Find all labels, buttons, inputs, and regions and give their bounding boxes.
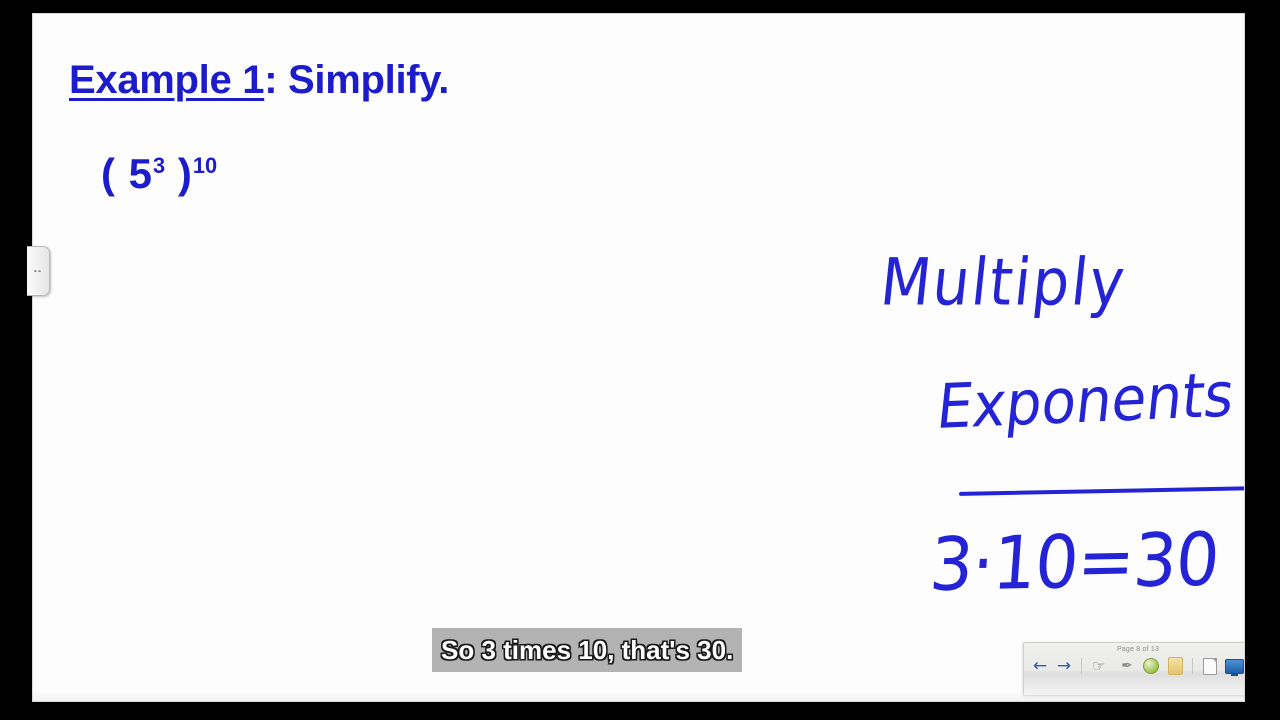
slide-canvas[interactable]: Example 1: Simplify. ( 53 )10 Multiply E… [33,14,1244,701]
arrow-left-icon: ← [1033,658,1047,675]
arrow-right-icon: → [1057,658,1071,675]
sidebar-toggle-handle[interactable]: •• [27,246,50,296]
expression-base: 5 [129,150,153,197]
page-title-instruction: : Simplify. [264,58,449,102]
expression-open-paren: ( [101,150,129,197]
closed-caption-text: So 3 times 10, that's 30. [441,635,733,666]
pointer-tool-button[interactable]: ☞ [1089,656,1109,676]
hand-pointer-icon: ☞ [1092,659,1105,674]
closed-caption-bar: So 3 times 10, that's 30. [432,628,742,672]
monitor-icon [1225,659,1244,674]
presenter-toolbar[interactable]: Page 8 of 13 ← → ☞ ✒ [1023,642,1244,696]
annotation-line-exponents: Exponents [933,360,1237,444]
pen-icon: ✒ [1121,659,1133,673]
grip-dots-icon: •• [34,268,42,274]
expression-close-paren: ) [165,150,193,197]
expression-inner-exponent: 3 [153,153,165,178]
document-icon [1203,658,1217,675]
page-indicator-label: Page 8 of 13 [1024,646,1244,653]
next-page-button[interactable]: → [1054,656,1074,676]
page-title-example-label: Example 1 [69,58,264,102]
record-button[interactable] [1141,656,1161,676]
page-title: Example 1: Simplify. [69,58,449,103]
toolbar-button-row: ← → ☞ ✒ [1030,655,1244,677]
highlight-button[interactable] [1165,656,1185,676]
pen-tool-button[interactable]: ✒ [1117,656,1137,676]
record-circle-icon [1143,658,1159,674]
annotation-underline-stroke [959,486,1244,496]
video-letterbox-frame: Example 1: Simplify. ( 53 )10 Multiply E… [0,0,1280,720]
previous-page-button[interactable]: ← [1030,656,1050,676]
math-expression: ( 53 )10 [101,150,217,198]
annotation-line-equation: 3·10=30 [927,518,1221,609]
toolbar-divider-2 [1192,658,1193,674]
toolbar-divider-1 [1081,658,1082,674]
annotation-line-multiply: Multiply [877,244,1130,320]
notes-button[interactable] [1200,656,1220,676]
fullscreen-button[interactable] [1224,656,1244,676]
highlighter-icon [1168,657,1183,675]
expression-outer-exponent: 10 [193,153,217,178]
